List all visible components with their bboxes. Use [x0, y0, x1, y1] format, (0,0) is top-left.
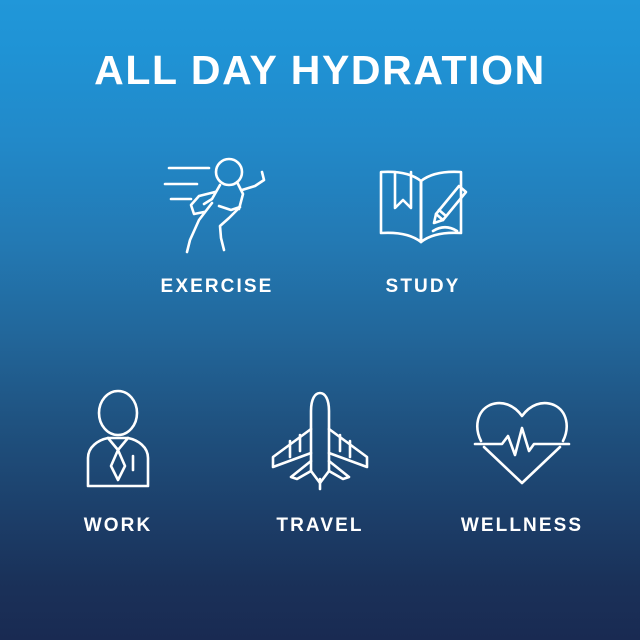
feature-item-work[interactable]: WORK: [17, 385, 219, 537]
feature-label-travel: TRAVEL: [276, 515, 363, 537]
poster-canvas: ALL DAY HYDRATION: [0, 0, 640, 640]
heart-pulse-icon: [472, 385, 572, 497]
feature-item-study[interactable]: STUDY: [320, 150, 526, 298]
airplane-icon: [267, 385, 373, 497]
running-person-icon: [163, 150, 271, 262]
page-title: ALL DAY HYDRATION: [0, 48, 640, 92]
feature-item-travel[interactable]: TRAVEL: [219, 385, 421, 537]
top-row: EXERCISE: [0, 150, 640, 298]
feature-item-exercise[interactable]: EXERCISE: [114, 150, 320, 298]
feature-label-study: STUDY: [386, 276, 461, 298]
feature-item-wellness[interactable]: WELLNESS: [421, 385, 623, 537]
feature-label-exercise: EXERCISE: [161, 276, 274, 298]
open-book-pencil-icon: [373, 150, 473, 262]
feature-label-work: WORK: [84, 515, 153, 537]
bottom-row: WORK: [0, 385, 640, 537]
businessperson-icon: [75, 385, 161, 497]
feature-label-wellness: WELLNESS: [461, 515, 583, 537]
